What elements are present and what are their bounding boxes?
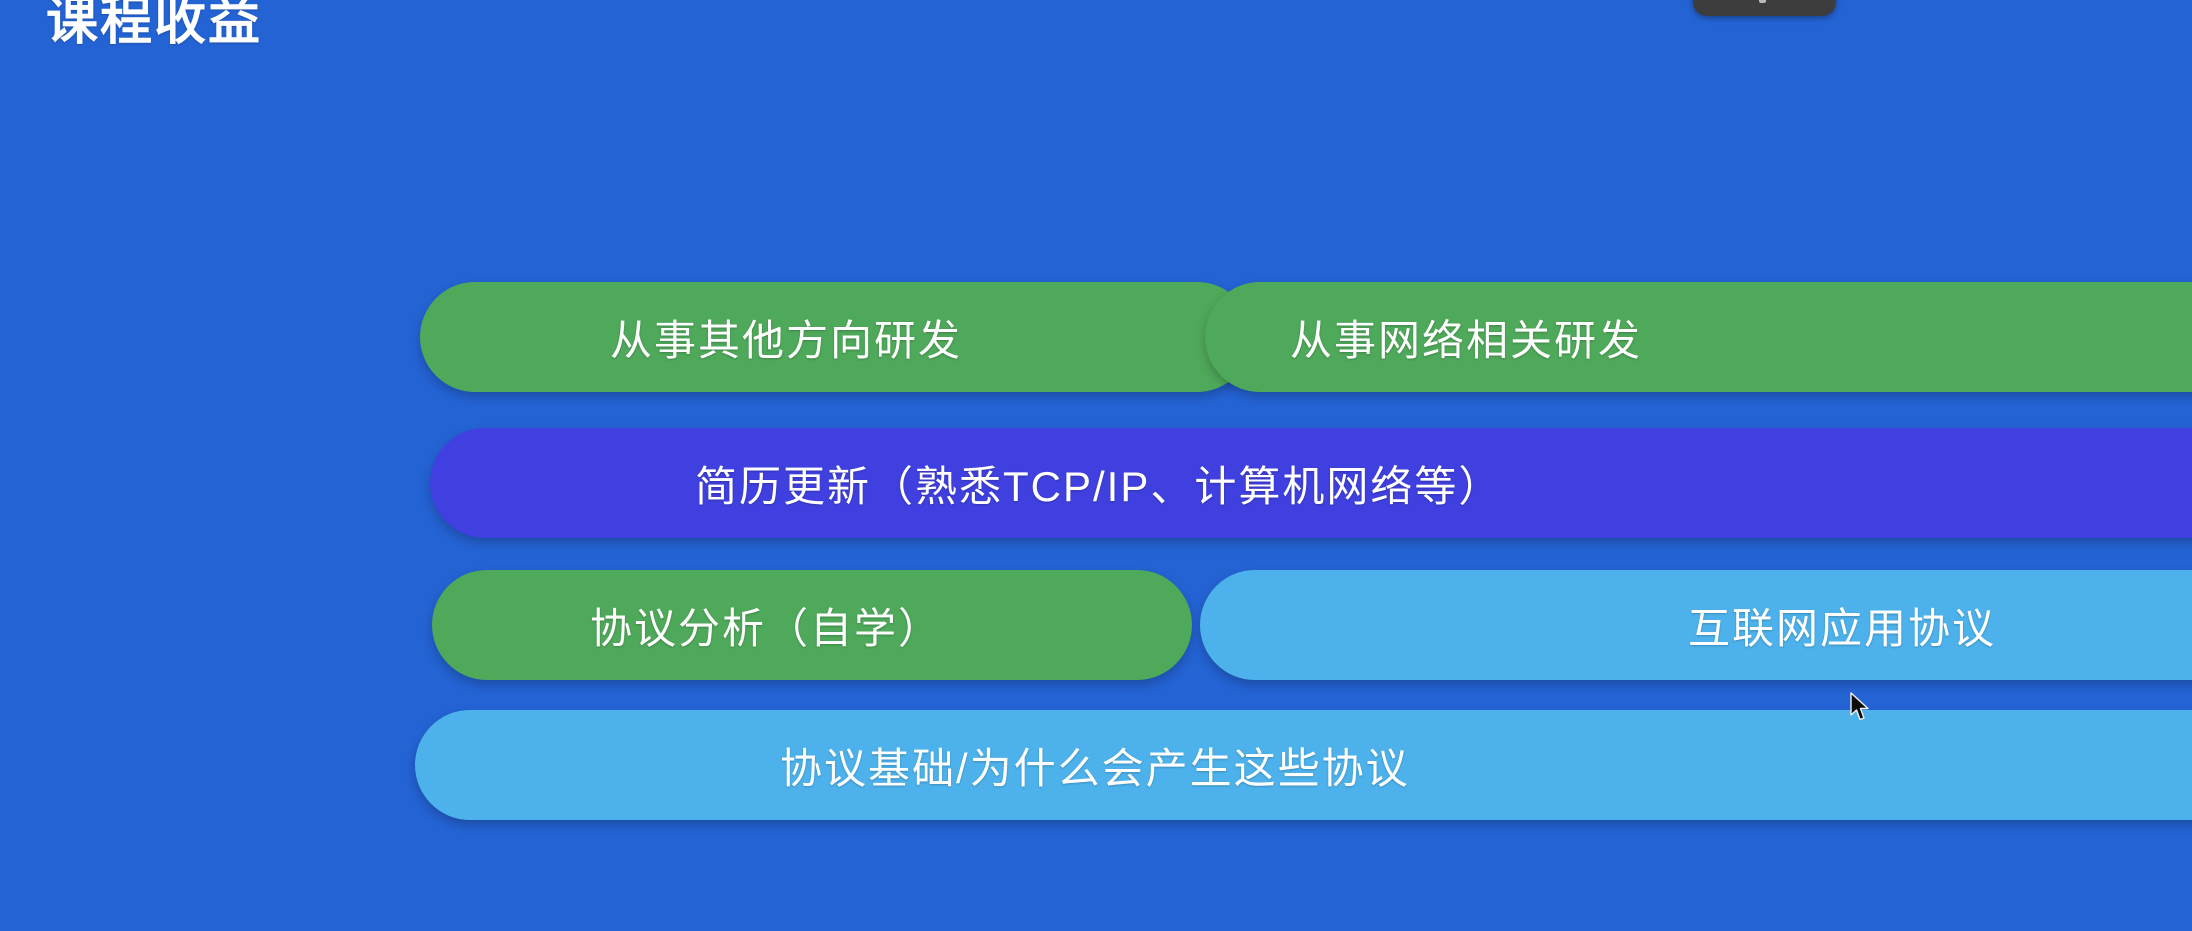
pill-label: 协议基础/为什么会产生这些协议: [780, 735, 1410, 796]
timeline-pill[interactable]: 简历更新（熟悉TCP/IP、计算机网络等）: [430, 428, 2192, 538]
pill-row: 协议基础/为什么会产生这些协议: [0, 710, 2192, 820]
pill-label: 简历更新（熟悉TCP/IP、计算机网络等）: [695, 453, 1502, 514]
timeline-pill[interactable]: 互联网应用协议: [1200, 570, 2192, 680]
timeline-pill[interactable]: 从事网络相关研发: [1205, 282, 2192, 392]
pill-row: 互联网应用协议 协议分析（自学）: [0, 570, 2192, 680]
timeline-pill[interactable]: 从事其他方向研发: [420, 282, 1252, 392]
pill-label: 互联网应用协议: [1688, 595, 1996, 656]
pill-label: 从事其他方向研发: [610, 307, 962, 368]
timeline-pill[interactable]: 协议分析（自学）: [432, 570, 1192, 680]
pill-row: 简历更新（熟悉TCP/IP、计算机网络等）: [0, 428, 2192, 538]
pill-label: 从事网络相关研发: [1290, 307, 1642, 368]
player-toolbar[interactable]: [1693, 0, 1836, 16]
slide-canvas: 课程收益 从事其他方向研发 从事网络相关研发 简历更新（熟悉TCP/IP、计算机…: [0, 0, 2192, 931]
pill-row: 从事其他方向研发 从事网络相关研发: [0, 282, 2192, 392]
page-title: 课程收益: [46, 0, 262, 55]
toolbar-indicator-icon: [1759, 0, 1766, 3]
timeline-pill[interactable]: 协议基础/为什么会产生这些协议: [415, 710, 2192, 820]
pill-label: 协议分析（自学）: [590, 595, 942, 656]
